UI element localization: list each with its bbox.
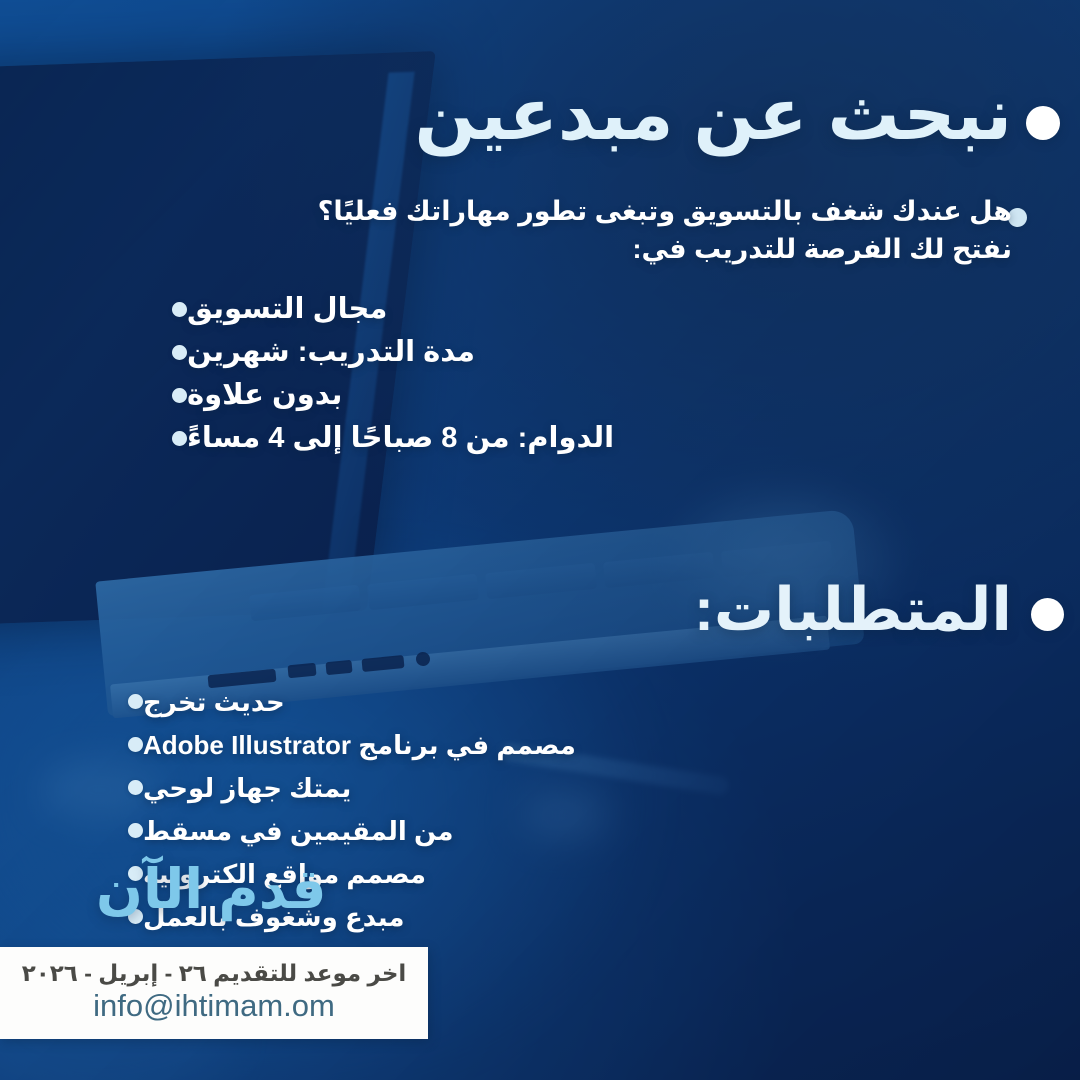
offer-list-item-label: مدة التدريب: شهرين xyxy=(187,338,475,367)
requirements-heading: المتطلبات: xyxy=(694,580,1012,640)
headline: نبحث عن مبدعين xyxy=(415,78,1012,154)
offer-list-item: مدة التدريب: شهرين xyxy=(172,331,1012,374)
offer-list-item-label: بدون علاوة xyxy=(187,381,342,410)
subtitle: هل عندك شغف بالتسويق وتبغى تطور مهاراتك … xyxy=(182,192,1012,269)
list-bullet-icon xyxy=(128,780,143,795)
application-deadline: اخر موعد للتقديم ٢٦ - إبريل - ٢٠٢٦ xyxy=(22,961,407,986)
offer-list-item: بدون علاوة xyxy=(172,374,1012,417)
list-bullet-icon xyxy=(128,823,143,838)
headline-bullet-icon xyxy=(1026,106,1060,140)
subtitle-line-1: هل عندك شغف بالتسويق وتبغى تطور مهاراتك … xyxy=(182,192,1012,230)
apply-now-label: قدم الآن xyxy=(96,862,326,917)
requirement-item-label: مصمم في برنامج Adobe Illustrator xyxy=(143,732,576,758)
list-bullet-icon xyxy=(172,302,187,317)
list-bullet-icon xyxy=(172,345,187,360)
requirement-item-label: حديث تخرج xyxy=(143,689,285,715)
requirement-item-label: من المقيمين في مسقط xyxy=(143,818,453,844)
requirement-item: يمتك جهاز لوحي xyxy=(128,766,1028,809)
requirements-list: حديث تخرج مصمم في برنامج Adobe Illustrat… xyxy=(128,680,1028,981)
list-bullet-icon xyxy=(172,388,187,403)
offer-list-item-label: الدوام: من 8 صباحًا إلى 4 مساءً xyxy=(187,424,614,453)
poster-content: نبحث عن مبدعين هل عندك شغف بالتسويق وتبغ… xyxy=(0,0,1080,1080)
requirements-bullet-icon xyxy=(1031,598,1064,631)
offer-list-item-label: مجال التسويق xyxy=(187,295,387,324)
subtitle-line-2: نفتح لك الفرصة للتدريب في: xyxy=(182,230,1012,268)
list-bullet-icon xyxy=(128,694,143,709)
contact-email[interactable]: info@ihtimam.om xyxy=(93,989,335,1023)
requirement-item: من المقيمين في مسقط xyxy=(128,809,1028,852)
list-bullet-icon xyxy=(172,431,187,446)
recruitment-poster: نبحث عن مبدعين هل عندك شغف بالتسويق وتبغ… xyxy=(0,0,1080,1080)
contact-card: اخر موعد للتقديم ٢٦ - إبريل - ٢٠٢٦ info@… xyxy=(0,947,428,1039)
offer-list-item: مجال التسويق xyxy=(172,288,1012,331)
requirement-item: مصمم في برنامج Adobe Illustrator xyxy=(128,723,1028,766)
offer-list: مجال التسويق مدة التدريب: شهرين بدون علا… xyxy=(172,288,1012,460)
requirement-item-label: يمتك جهاز لوحي xyxy=(143,775,351,801)
offer-list-item: الدوام: من 8 صباحًا إلى 4 مساءً xyxy=(172,417,1012,460)
requirement-item: حديث تخرج xyxy=(128,680,1028,723)
list-bullet-icon xyxy=(128,737,143,752)
